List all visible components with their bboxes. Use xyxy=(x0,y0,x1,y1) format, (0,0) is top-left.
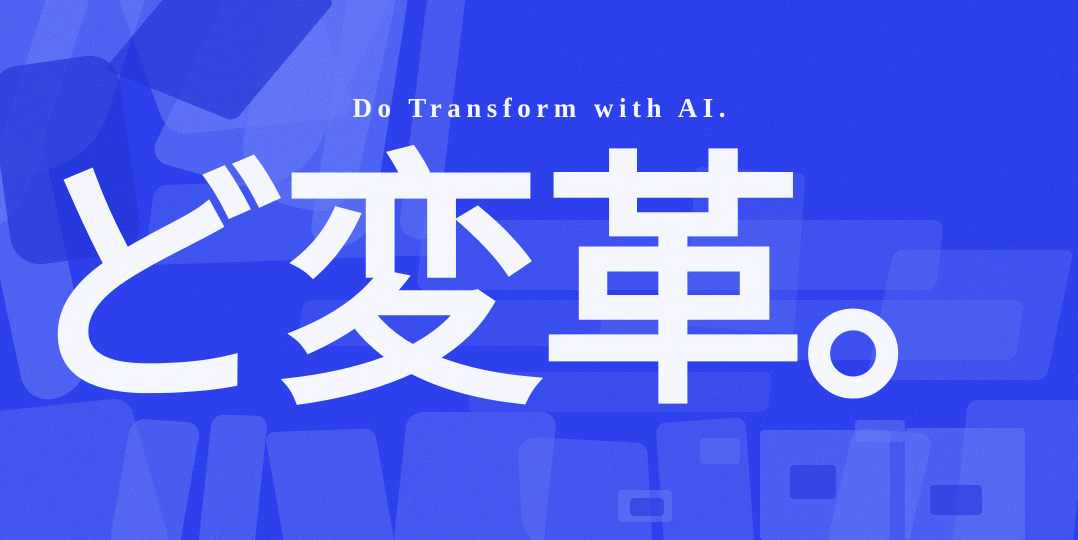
headline: ど変革。 xyxy=(0,152,1078,420)
hero-banner: Do Transform with AI. ど変革。 xyxy=(0,0,1078,540)
banner-content: Do Transform with AI. ど変革。 xyxy=(0,0,1078,540)
tagline: Do Transform with AI. xyxy=(0,95,1078,122)
